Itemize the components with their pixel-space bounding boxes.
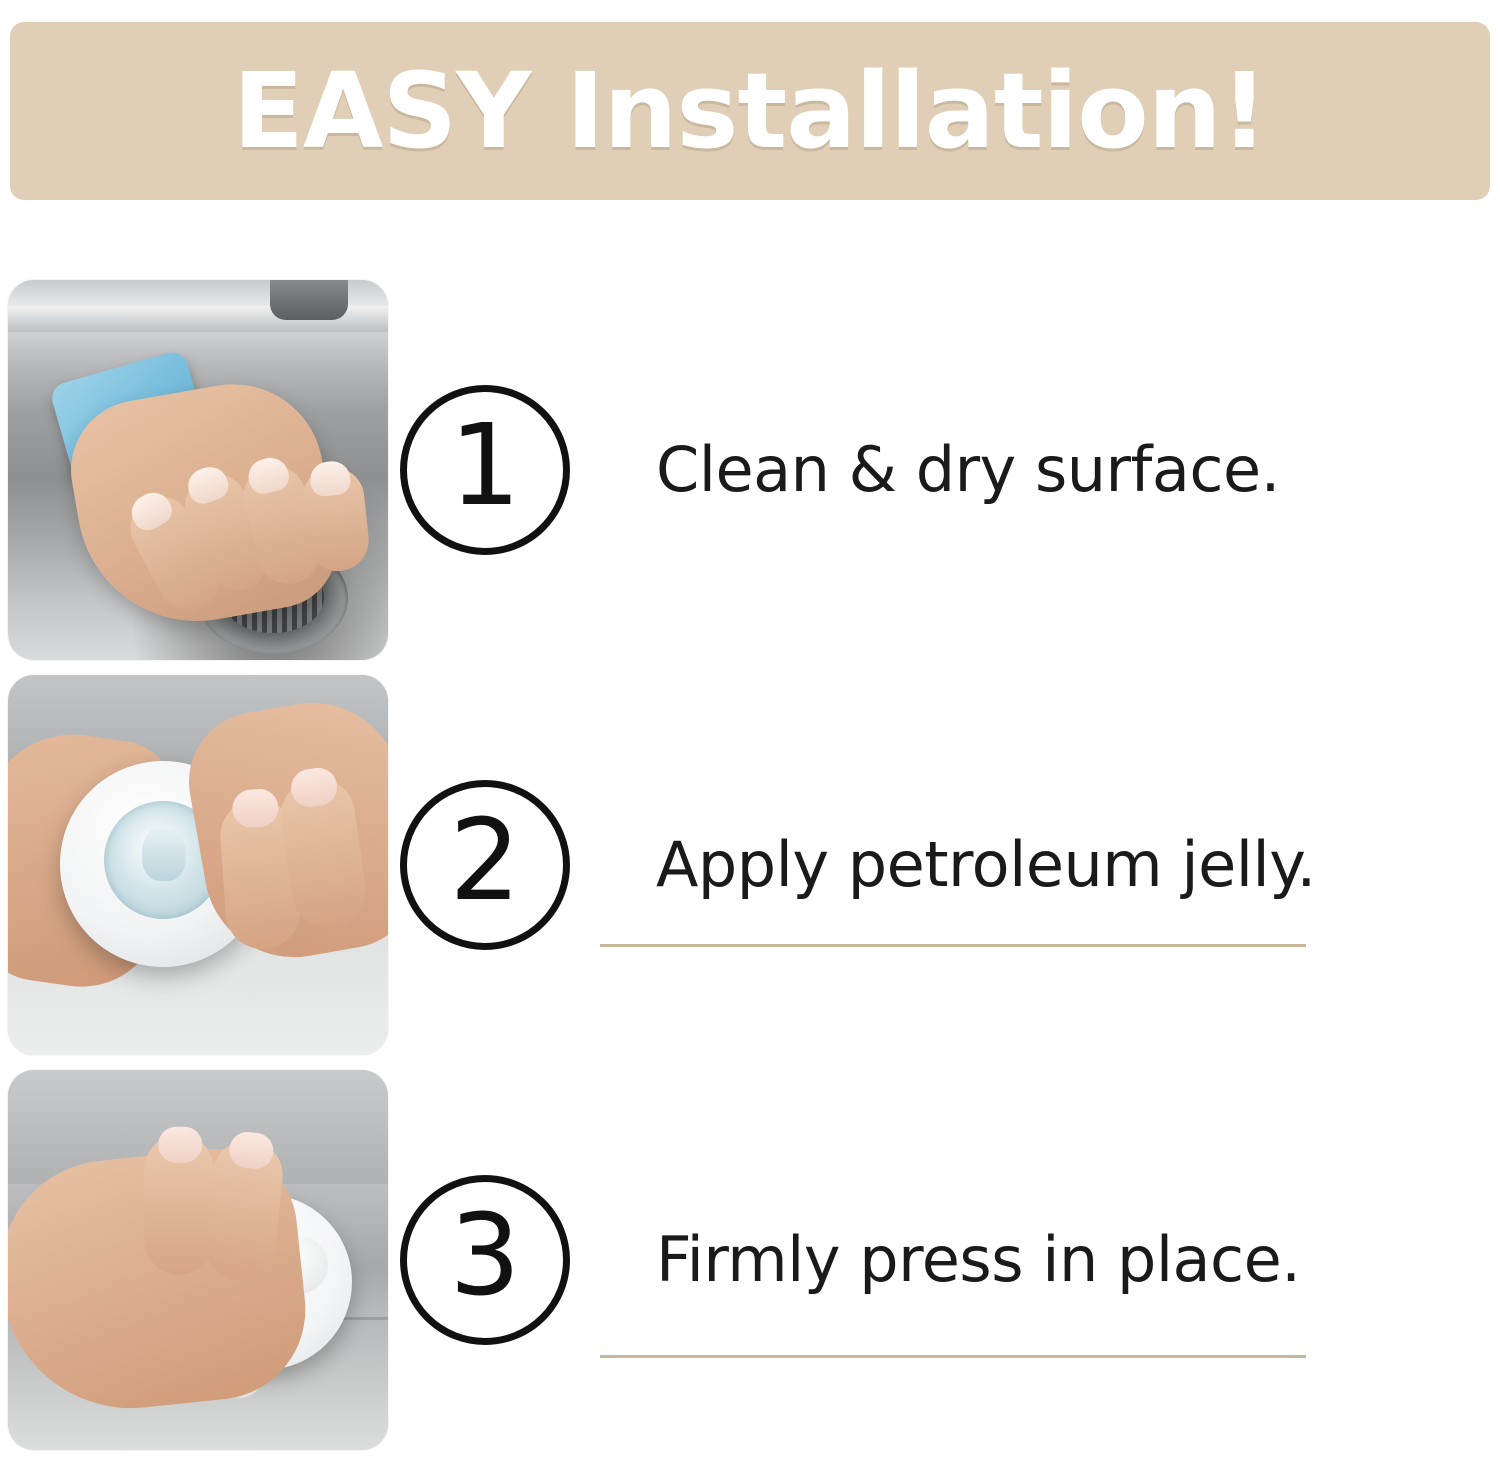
step-row: 1 Clean & dry surface. [0,272,1500,667]
step-number: 3 [449,1200,520,1312]
fingernail-shape [231,787,280,828]
hand-shape [8,1141,314,1421]
step-2-photo [8,675,388,1055]
fingernail-shape [245,454,292,497]
step-number-badge: 1 [400,385,570,555]
faucet-shape [270,280,348,320]
step-number-badge: 2 [400,780,570,950]
hand-shape [60,370,346,640]
step-number-badge: 3 [400,1175,570,1345]
step-number: 2 [449,805,520,917]
finger-shape [144,1134,214,1274]
fingernail-shape [183,462,232,508]
step-caption: Apply petroleum jelly. [570,828,1500,901]
step-number: 1 [449,410,520,522]
step-caption: Firmly press in place. [570,1223,1500,1296]
fingernail-shape [125,486,176,535]
finger-shape [202,1136,286,1283]
suction-cup-nub-shape [142,825,186,881]
steps-list: 1 Clean & dry surface. 2 Apply pe [0,272,1500,1457]
fingernail-shape [309,459,352,497]
header-banner: EASY Installation! [10,22,1490,200]
page-title: EASY Installation! [233,59,1267,163]
fingernail-shape [289,765,340,809]
step-3-photo [8,1070,388,1450]
fingernail-shape [158,1126,202,1162]
step-caption: Clean & dry surface. [570,433,1500,506]
step-1-photo [8,280,388,660]
step-row: 3 Firmly press in place. [0,1062,1500,1457]
step-row: 2 Apply petroleum jelly. [0,667,1500,1062]
